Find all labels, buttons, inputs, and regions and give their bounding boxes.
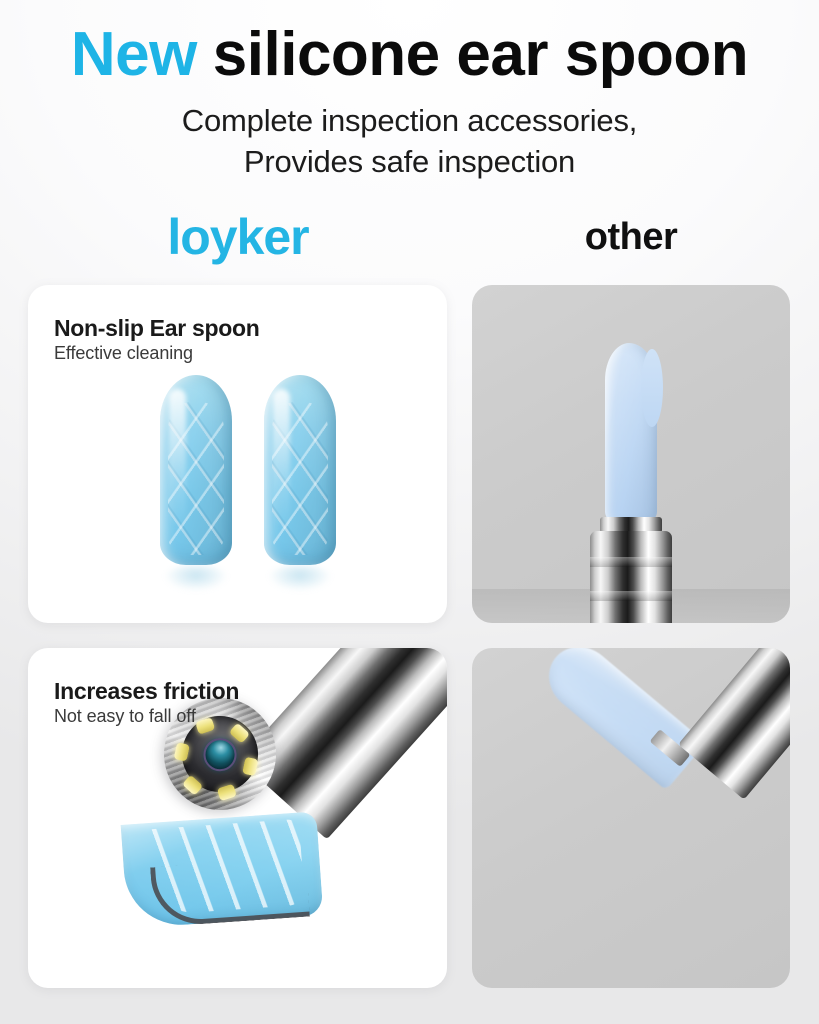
product-infographic: Newsilicone ear spoon Complete inspectio… [0, 0, 819, 1024]
subtitle-line-2: Provides safe inspection [0, 141, 819, 182]
panel-title-non-slip: Non-slip Ear spoon [54, 315, 259, 342]
panel-title-increases-friction: Increases friction [54, 678, 239, 705]
tip-shadow-left [164, 565, 228, 591]
page-title: Newsilicone ear spoon [0, 20, 819, 90]
panel-other-plain-spoon [472, 648, 790, 988]
plain-silicone-spoon [536, 648, 706, 790]
metal-barrel-angled [678, 648, 790, 800]
textured-ear-spoon-attached [124, 818, 320, 944]
tip-gloss-right [273, 389, 290, 529]
panel-subtitle-effective-cleaning: Effective cleaning [54, 343, 193, 364]
silicone-tip-right [264, 375, 336, 565]
panel-non-slip-ear-spoon: Non-slip Ear spoon Effective cleaning [28, 285, 447, 623]
tip-gloss-left [169, 389, 186, 529]
metal-barrel [590, 531, 672, 623]
barrel-band-lower [590, 591, 672, 601]
title-rest: silicone ear spoon [213, 20, 748, 89]
plain-silicone-tip [605, 343, 657, 523]
led-light [174, 742, 190, 761]
comparison-header-row: loyker other [0, 208, 819, 278]
silicone-tip-left [160, 375, 232, 565]
subtitle-line-1: Complete inspection accessories, [0, 100, 819, 141]
title-highlight: New [71, 20, 197, 89]
panel-subtitle-not-easy-to-fall-off: Not easy to fall off [54, 706, 196, 727]
tip-shadow-right [268, 565, 332, 591]
other-plain-spoon-image [472, 648, 790, 988]
other-plain-tip-image [472, 285, 790, 623]
panel-increases-friction: Increases friction Not easy to fall off [28, 648, 447, 988]
brand-label-other: other [472, 208, 790, 266]
barrel-band-upper [590, 557, 672, 567]
spoon-groove [150, 857, 310, 928]
panel-other-plain-tip [472, 285, 790, 623]
page-subtitle: Complete inspection accessories, Provide… [0, 100, 819, 182]
brand-logo-loyker: loyker [28, 208, 448, 266]
